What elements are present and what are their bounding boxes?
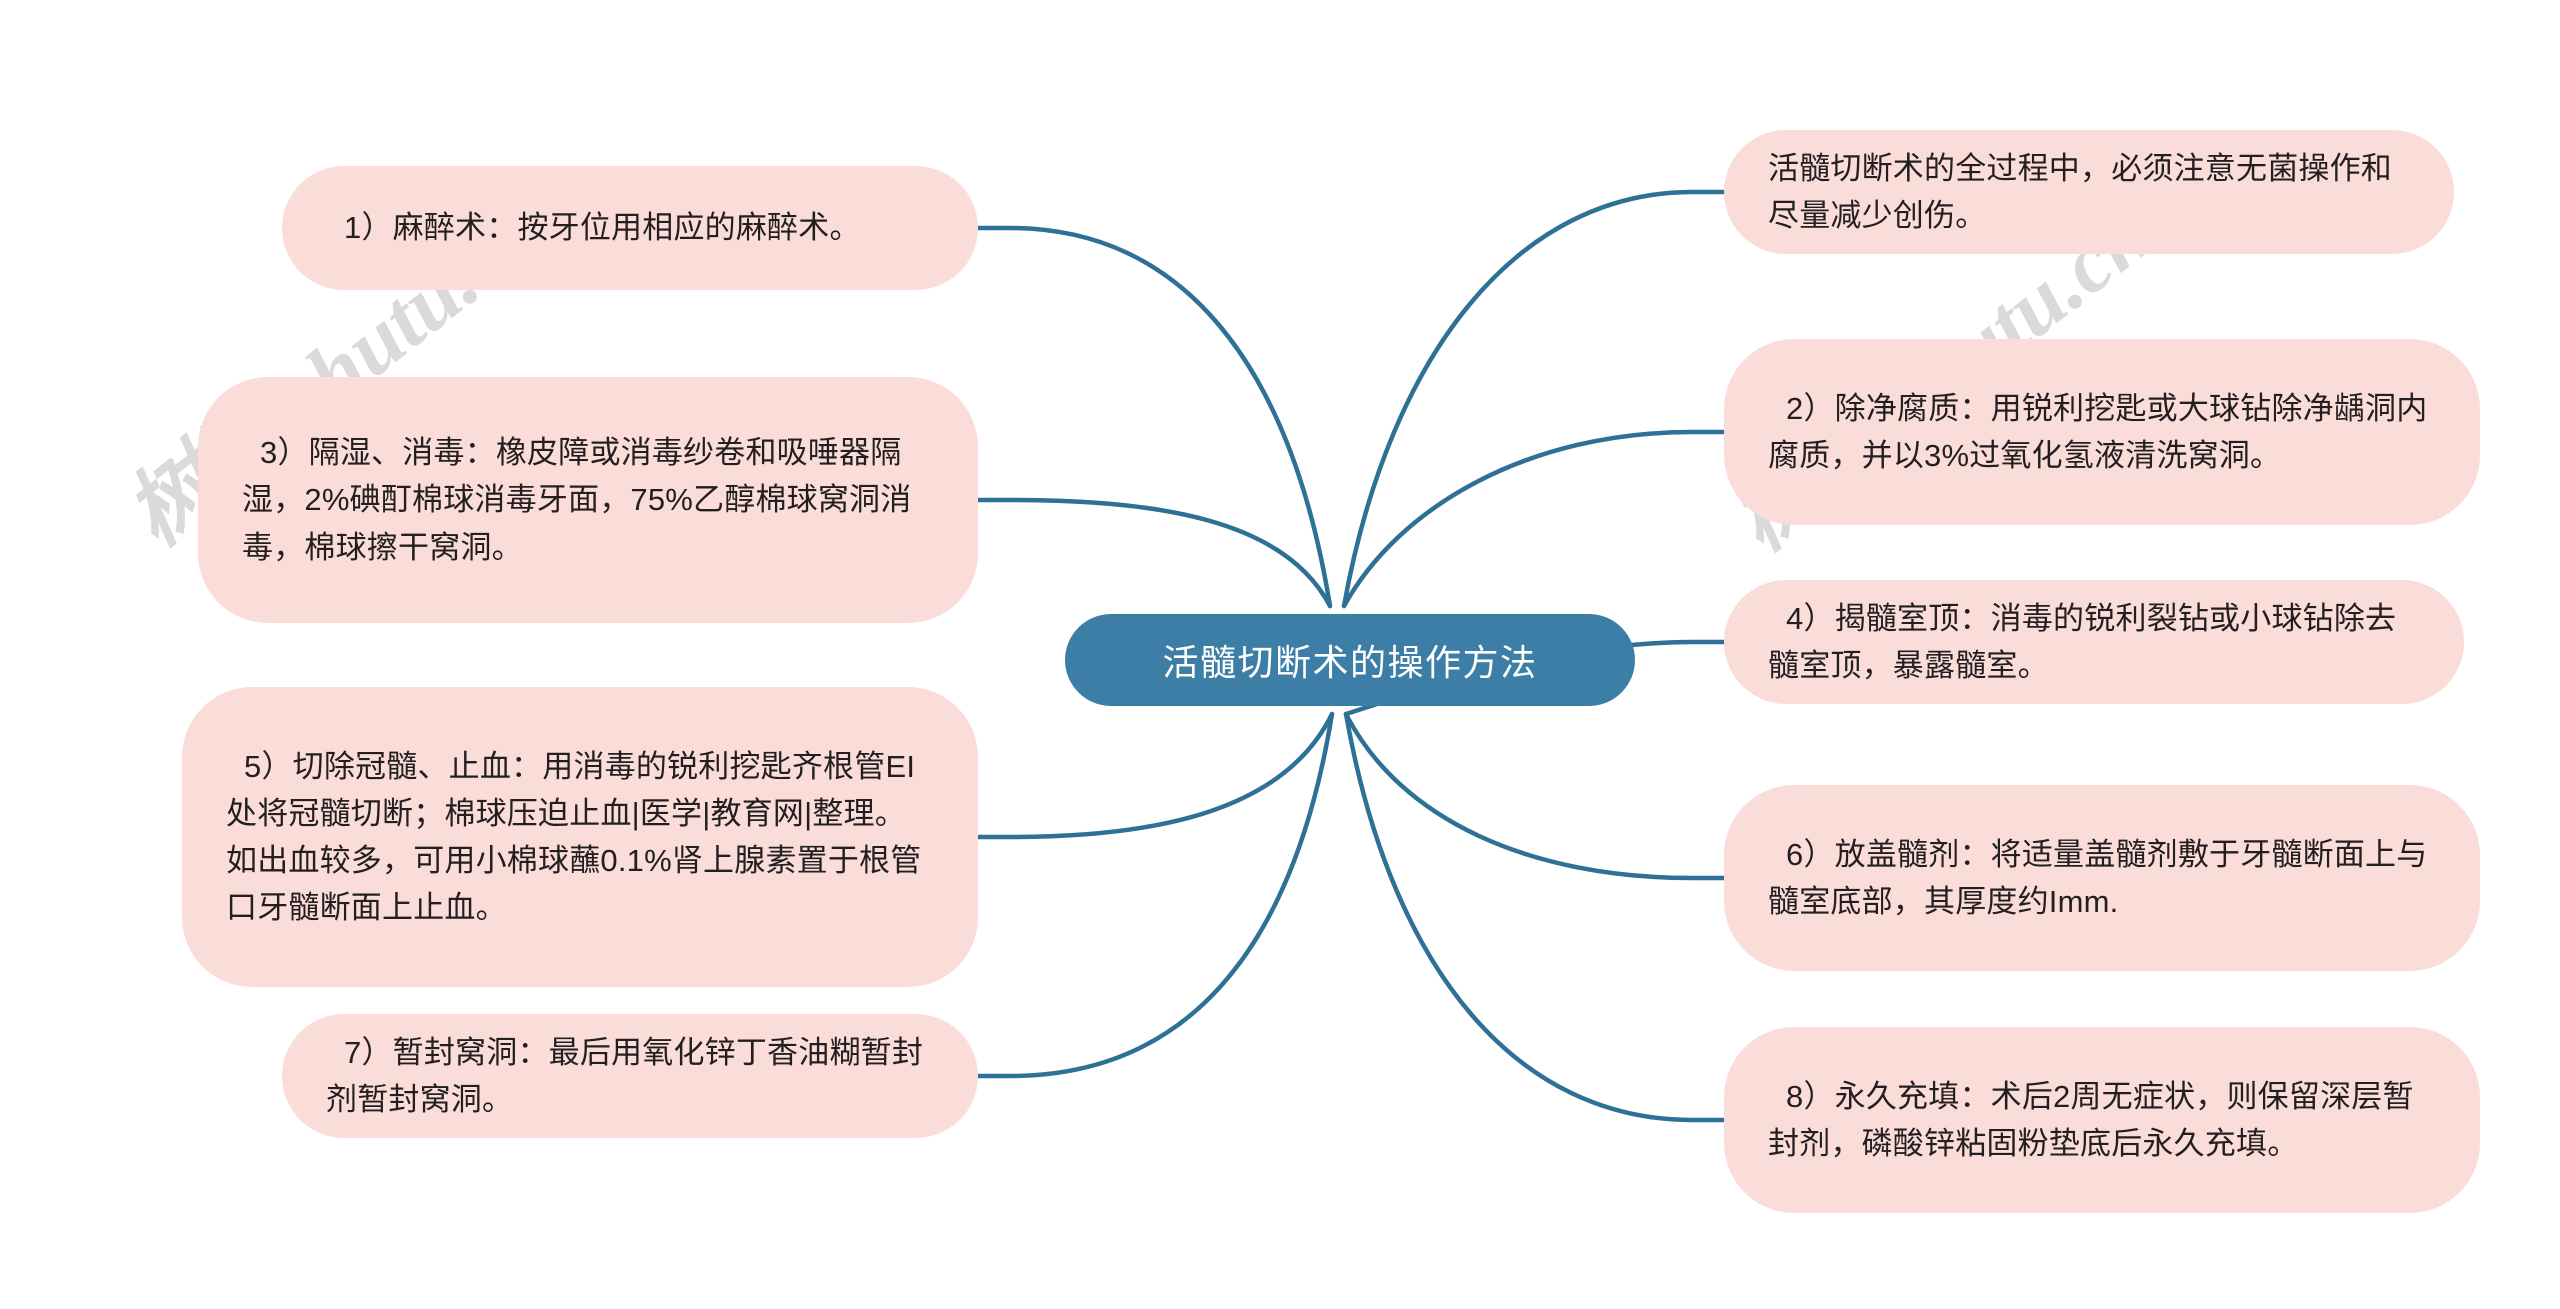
branch-node-note[interactable]: 活髓切断术的全过程中，必须注意无菌操作和尽量减少创伤。 xyxy=(1724,130,2454,254)
central-topic-node[interactable]: 活髓切断术的操作方法 xyxy=(1065,614,1635,706)
connector-left-4 xyxy=(978,714,1332,1076)
connector-right-5 xyxy=(1346,714,1724,1120)
branch-node-7-label: 7）暂封窝洞：最后用氧化锌丁香油糊暂封剂暂封窝洞。 xyxy=(282,1029,978,1123)
central-topic-label: 活髓切断术的操作方法 xyxy=(1065,634,1635,686)
branch-node-7[interactable]: 7）暂封窝洞：最后用氧化锌丁香油糊暂封剂暂封窝洞。 xyxy=(282,1014,978,1138)
branch-node-2-label: 2）除净腐质：用锐利挖匙或大球钻除净龋洞内腐质，并以3%过氧化氢液清洗窝洞。 xyxy=(1724,385,2480,479)
connector-left-2 xyxy=(978,500,1330,606)
branch-node-4[interactable]: 4）揭髓室顶：消毒的锐利裂钻或小球钻除去髓室顶，暴露髓室。 xyxy=(1724,580,2464,704)
branch-node-3[interactable]: 3）隔湿、消毒：橡皮障或消毒纱卷和吸唾器隔湿，2%碘酊棉球消毒牙面，75%乙醇棉… xyxy=(198,377,978,623)
connector-right-1 xyxy=(1344,192,1724,606)
branch-node-2[interactable]: 2）除净腐质：用锐利挖匙或大球钻除净龋洞内腐质，并以3%过氧化氢液清洗窝洞。 xyxy=(1724,339,2480,525)
branch-node-8[interactable]: 8）永久充填：术后2周无症状，则保留深层暂封剂，磷酸锌粘固粉垫底后永久充填。 xyxy=(1724,1027,2480,1213)
branch-node-5[interactable]: 5）切除冠髓、止血：用消毒的锐利挖匙齐根管EI处将冠髓切断；棉球压迫止血|医学|… xyxy=(182,687,978,987)
branch-node-3-label: 3）隔湿、消毒：橡皮障或消毒纱卷和吸唾器隔湿，2%碘酊棉球消毒牙面，75%乙醇棉… xyxy=(198,429,978,570)
branch-node-note-label: 活髓切断术的全过程中，必须注意无菌操作和尽量减少创伤。 xyxy=(1724,145,2454,239)
branch-node-1[interactable]: 1）麻醉术：按牙位用相应的麻醉术。 xyxy=(282,166,978,290)
branch-node-6[interactable]: 6）放盖髓剂：将适量盖髓剂敷于牙髓断面上与髓室底部，其厚度约Imm. xyxy=(1724,785,2480,971)
connector-right-2 xyxy=(1344,432,1724,606)
connector-right-4 xyxy=(1346,714,1724,878)
branch-node-1-label: 1）麻醉术：按牙位用相应的麻醉术。 xyxy=(282,204,978,251)
branch-node-4-label: 4）揭髓室顶：消毒的锐利裂钻或小球钻除去髓室顶，暴露髓室。 xyxy=(1724,595,2464,689)
branch-node-8-label: 8）永久充填：术后2周无症状，则保留深层暂封剂，磷酸锌粘固粉垫底后永久充填。 xyxy=(1724,1073,2480,1167)
branch-node-6-label: 6）放盖髓剂：将适量盖髓剂敷于牙髓断面上与髓室底部，其厚度约Imm. xyxy=(1724,831,2480,925)
connector-left-3 xyxy=(978,714,1332,837)
mindmap-canvas: 树图 shutu.cn 树图 shutu.cn 1）麻醉术：按牙位用相应的麻醉术… xyxy=(0,0,2560,1309)
branch-node-5-label: 5）切除冠髓、止血：用消毒的锐利挖匙齐根管EI处将冠髓切断；棉球压迫止血|医学|… xyxy=(182,743,978,931)
